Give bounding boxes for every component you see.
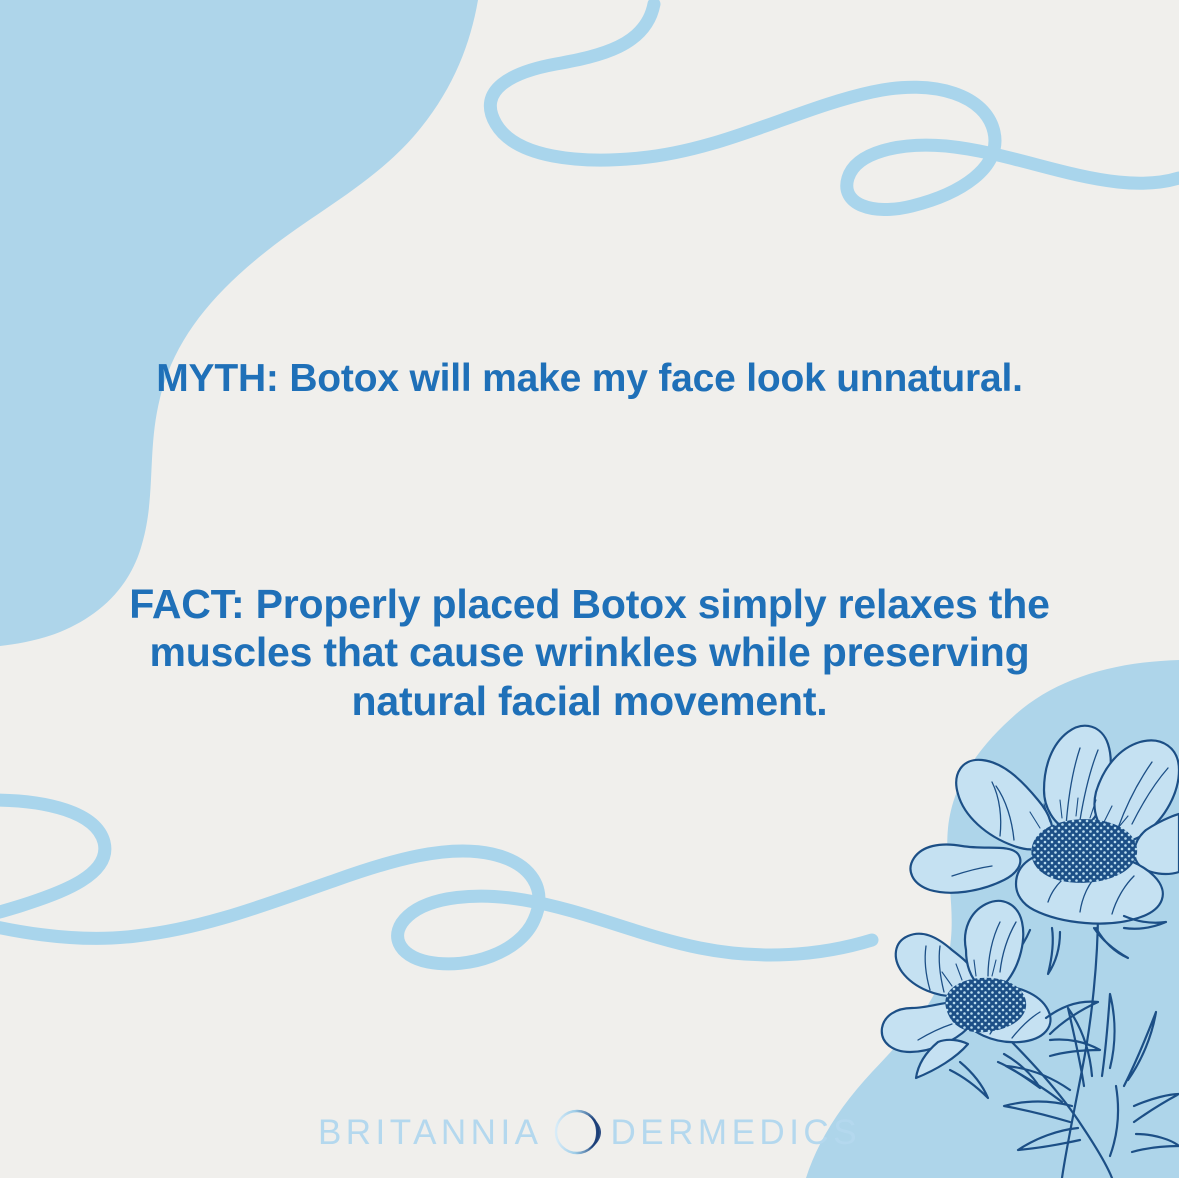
social-post-canvas: MYTH: Botox will make my face look unnat… — [0, 0, 1179, 1178]
flower-upper-center — [1031, 819, 1137, 883]
logo-word-dermedics: DERMEDICS — [611, 1115, 862, 1150]
crescent-circle-icon — [551, 1106, 603, 1158]
flower-upper — [911, 726, 1179, 974]
myth-headline: MYTH: Botox will make my face look unnat… — [0, 356, 1179, 402]
fact-block: FACT: Properly placed Botox simply relax… — [0, 580, 1179, 725]
brand-logo: BRITANNIA DERMEDICS — [0, 1106, 1179, 1158]
myth-block: MYTH: Botox will make my face look unnat… — [0, 356, 1179, 402]
logo-word-britannia: BRITANNIA — [318, 1115, 543, 1150]
fact-headline: FACT: Properly placed Botox simply relax… — [0, 580, 1179, 725]
flower-lower — [882, 901, 1100, 1098]
